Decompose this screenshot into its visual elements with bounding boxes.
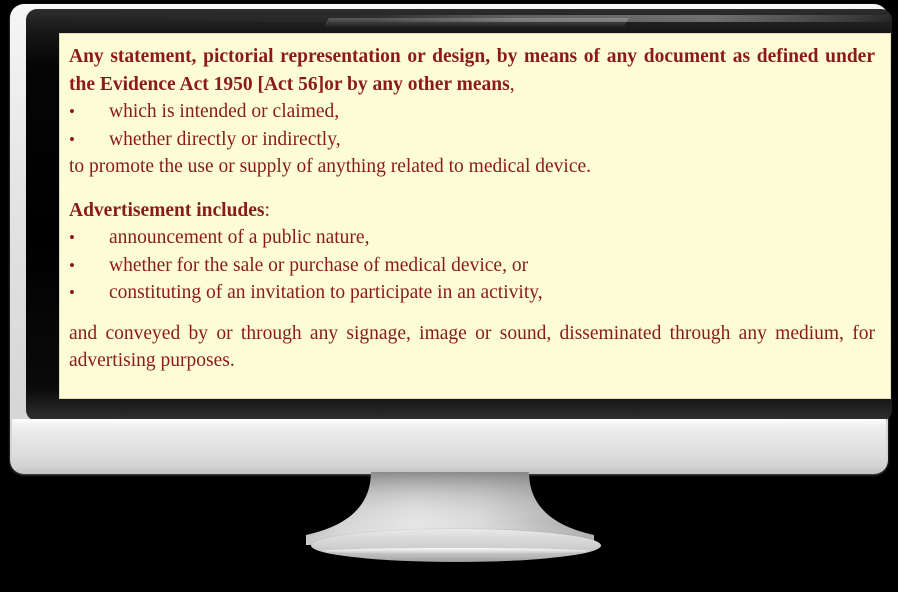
- monitor-base-highlight: [14, 420, 884, 422]
- bullet-icon: •: [69, 224, 109, 252]
- list-item-label: whether for the sale or purchase of medi…: [109, 252, 875, 280]
- bullet-icon: •: [69, 126, 109, 154]
- includes-heading: Advertisement includes:: [69, 197, 875, 225]
- section-spacer: [69, 181, 875, 197]
- list-item: • whether for the sale or purchase of me…: [69, 252, 875, 280]
- bullet-icon: •: [69, 252, 109, 280]
- list-item-label: whether directly or indirectly,: [109, 126, 875, 154]
- list-item-label: announcement of a public nature,: [109, 224, 875, 252]
- monitor-screen: Any statement, pictorial representation …: [59, 33, 891, 399]
- list-item: • announcement of a public nature,: [69, 224, 875, 252]
- list-item: • whether directly or indirectly,: [69, 126, 875, 154]
- monitor-shell: Any statement, pictorial representation …: [10, 4, 888, 474]
- bezel-highlight: [50, 15, 898, 22]
- bullet-icon: •: [69, 98, 109, 126]
- monitor-base-bar: [12, 419, 886, 474]
- list-item: • which is intended or claimed,: [69, 98, 875, 126]
- definition-lead: Any statement, pictorial representation …: [69, 43, 875, 98]
- definition-lead-tail: ,: [510, 74, 515, 95]
- section-spacer: [69, 307, 875, 320]
- includes-heading-bold: Advertisement includes: [69, 200, 265, 221]
- definition-closing: to promote the use or supply of anything…: [69, 153, 875, 181]
- slide-content: Any statement, pictorial representation …: [59, 33, 891, 383]
- monitor-bezel: Any statement, pictorial representation …: [26, 9, 892, 421]
- definition-lead-bold: Any statement, pictorial representation …: [69, 46, 875, 95]
- includes-closing: and conveyed by or through any signage, …: [69, 320, 875, 375]
- list-item: • constituting of an invitation to parti…: [69, 279, 875, 307]
- list-item-label: constituting of an invitation to partici…: [109, 279, 875, 307]
- includes-heading-tail: :: [265, 200, 270, 221]
- monitor-stand-foot-highlight: [323, 548, 589, 554]
- screenshot-stage: Any statement, pictorial representation …: [0, 0, 898, 592]
- monitor-stand-foot: [311, 529, 601, 562]
- bezel-glint: [323, 18, 629, 28]
- list-item-label: which is intended or claimed,: [109, 98, 875, 126]
- bullet-icon: •: [69, 279, 109, 307]
